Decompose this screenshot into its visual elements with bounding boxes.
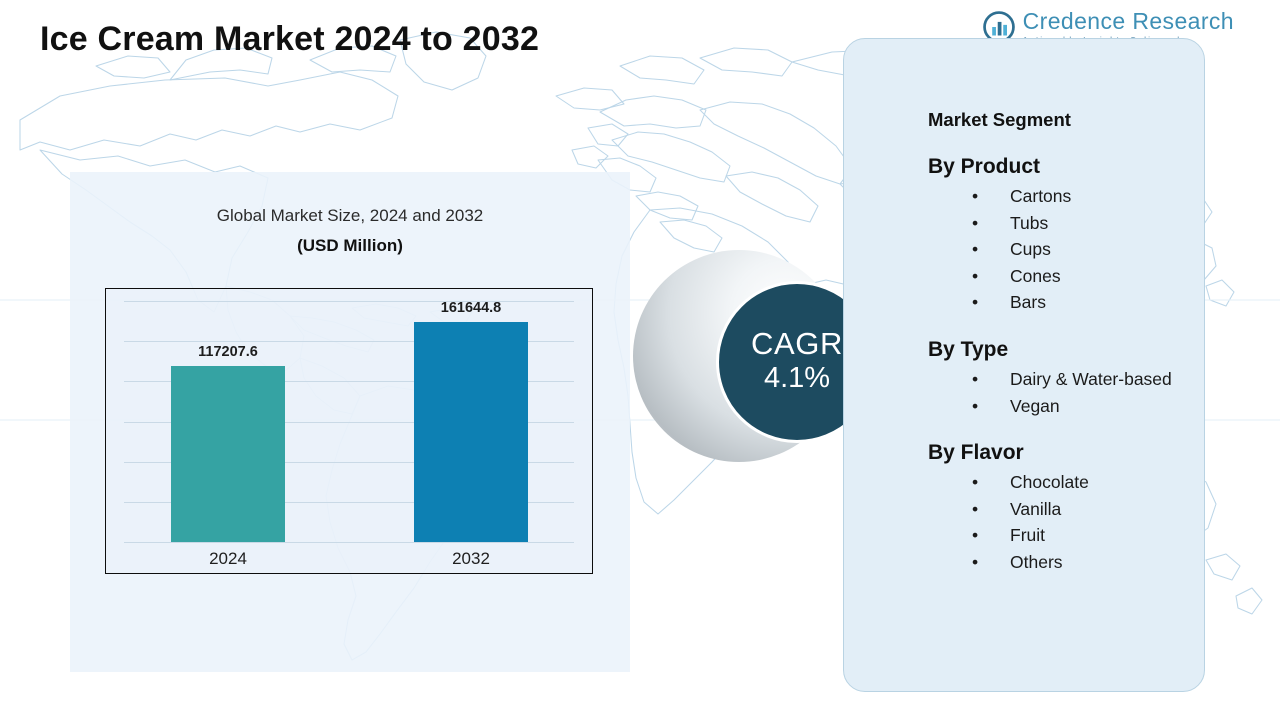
- list-item[interactable]: •Fruit: [972, 522, 1200, 549]
- x-axis-label-2032: 2032: [394, 549, 548, 569]
- cagr-value: 4.1%: [764, 360, 830, 396]
- list-item[interactable]: •Cups: [972, 236, 1200, 263]
- segment-group-title: By Product: [928, 155, 1204, 179]
- list-item-label: Others: [1010, 552, 1063, 572]
- list-item-label: Vanilla: [1010, 499, 1061, 519]
- segment-heading: Market Segment: [928, 109, 1204, 131]
- list-item-label: Tubs: [1010, 213, 1048, 233]
- bullet-icon: •: [972, 496, 978, 523]
- segment-groups: By Product•Cartons•Tubs•Cups•Cones•BarsB…: [928, 155, 1204, 576]
- gridline: [124, 542, 574, 543]
- bullet-icon: •: [972, 210, 978, 237]
- bullet-icon: •: [972, 183, 978, 210]
- x-axis-label-2024: 2024: [151, 549, 305, 569]
- list-item-label: Cartons: [1010, 186, 1071, 206]
- bar-2024: [171, 366, 285, 542]
- list-item[interactable]: •Vegan: [972, 393, 1200, 420]
- segment-item-list: •Cartons•Tubs•Cups•Cones•Bars: [928, 183, 1204, 316]
- list-item[interactable]: •Others: [972, 549, 1200, 576]
- bar-chart-plot: 117207.62024161644.82032: [105, 288, 593, 574]
- list-item[interactable]: •Cartons: [972, 183, 1200, 210]
- segment-group-title: By Type: [928, 338, 1204, 362]
- segment-group: By Flavor•Chocolate•Vanilla•Fruit•Others: [928, 441, 1204, 575]
- segment-group: By Product•Cartons•Tubs•Cups•Cones•Bars: [928, 155, 1204, 316]
- page-title: Ice Cream Market 2024 to 2032: [40, 20, 539, 59]
- list-item-label: Fruit: [1010, 525, 1045, 545]
- segment-item-list: •Dairy & Water-based•Vegan: [928, 366, 1204, 419]
- bullet-icon: •: [972, 549, 978, 576]
- bullet-icon: •: [972, 366, 978, 393]
- list-item[interactable]: •Cones: [972, 263, 1200, 290]
- list-item[interactable]: •Dairy & Water-based: [972, 366, 1200, 393]
- market-segment-panel: Market Segment By Product•Cartons•Tubs•C…: [843, 38, 1205, 692]
- list-item-label: Dairy & Water-based: [1010, 369, 1172, 389]
- bar-value-label: 117207.6: [153, 344, 303, 360]
- chart-title: Global Market Size, 2024 and 2032: [70, 206, 630, 226]
- list-item[interactable]: •Bars: [972, 289, 1200, 316]
- bar-2032: [414, 322, 528, 542]
- bullet-icon: •: [972, 522, 978, 549]
- list-item-label: Bars: [1010, 292, 1046, 312]
- list-item[interactable]: •Vanilla: [972, 496, 1200, 523]
- list-item[interactable]: •Chocolate: [972, 469, 1200, 496]
- list-item-label: Chocolate: [1010, 472, 1089, 492]
- list-item[interactable]: •Tubs: [972, 210, 1200, 237]
- bullet-icon: •: [972, 289, 978, 316]
- bar-value-label: 161644.8: [396, 300, 546, 316]
- chart-subtitle: (USD Million): [70, 236, 630, 256]
- list-item-label: Cups: [1010, 239, 1051, 259]
- infographic-canvas: Ice Cream Market 2024 to 2032 Credence R…: [0, 0, 1280, 720]
- segment-group-title: By Flavor: [928, 441, 1204, 465]
- list-item-label: Cones: [1010, 266, 1061, 286]
- bullet-icon: •: [972, 236, 978, 263]
- list-item-label: Vegan: [1010, 396, 1060, 416]
- bullet-icon: •: [972, 393, 978, 420]
- segment-group: By Type•Dairy & Water-based•Vegan: [928, 338, 1204, 419]
- cagr-label: CAGR: [751, 328, 843, 361]
- logo-name: Credence Research: [1023, 10, 1234, 33]
- segment-item-list: •Chocolate•Vanilla•Fruit•Others: [928, 469, 1204, 575]
- bullet-icon: •: [972, 263, 978, 290]
- bullet-icon: •: [972, 469, 978, 496]
